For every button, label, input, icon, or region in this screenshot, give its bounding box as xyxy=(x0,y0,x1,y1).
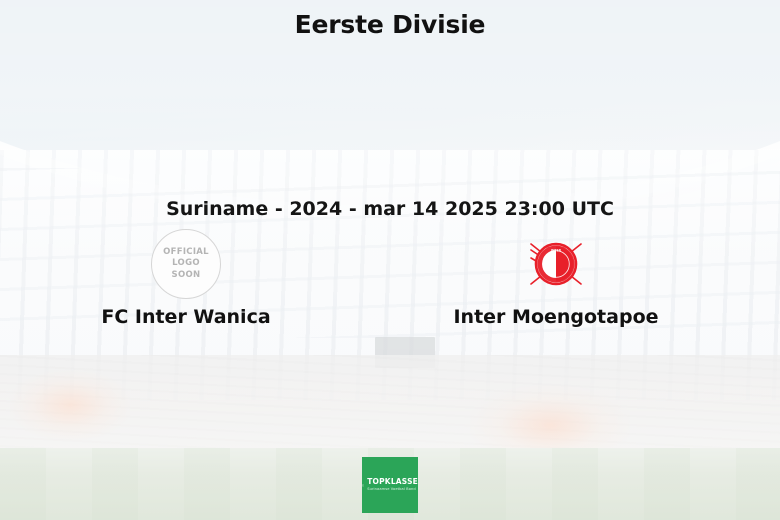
club-badge-icon: INTER xyxy=(522,230,590,298)
away-crest-slot: INTER xyxy=(406,228,706,300)
federation-crest-icon: S xyxy=(362,476,364,495)
home-team-block[interactable]: OFFICIAL LOGO SOON FC Inter Wanica xyxy=(36,228,336,328)
placeholder-line-2: LOGO xyxy=(172,258,200,269)
federation-subtitle: Surinaamse Voetbal Bond xyxy=(367,488,418,492)
federation-name: TOPKLASSE xyxy=(367,478,418,486)
placeholder-line-1: OFFICIAL xyxy=(163,247,209,258)
home-team-name: FC Inter Wanica xyxy=(36,306,336,328)
circle-placeholder-icon: OFFICIAL LOGO SOON xyxy=(151,229,221,299)
placeholder-line-3: SOON xyxy=(172,270,201,281)
page-title: Eerste Divisie xyxy=(0,10,780,39)
svg-text:S: S xyxy=(363,484,364,486)
match-preview-card: Eerste Divisie Suriname - 2024 - mar 14 … xyxy=(0,0,780,520)
federation-logo[interactable]: S TOPKLASSE Surinaamse Voetbal Bond xyxy=(362,457,418,513)
home-crest-slot: OFFICIAL LOGO SOON xyxy=(36,228,336,300)
match-meta-line: Suriname - 2024 - mar 14 2025 23:00 UTC xyxy=(0,198,780,220)
svg-text:INTER: INTER xyxy=(551,249,562,253)
card-content: Eerste Divisie Suriname - 2024 - mar 14 … xyxy=(0,0,780,520)
away-team-block[interactable]: INTER Inter Moengotapoe xyxy=(406,228,706,328)
away-team-name: Inter Moengotapoe xyxy=(406,306,706,328)
federation-text: TOPKLASSE Surinaamse Voetbal Bond xyxy=(367,478,418,491)
